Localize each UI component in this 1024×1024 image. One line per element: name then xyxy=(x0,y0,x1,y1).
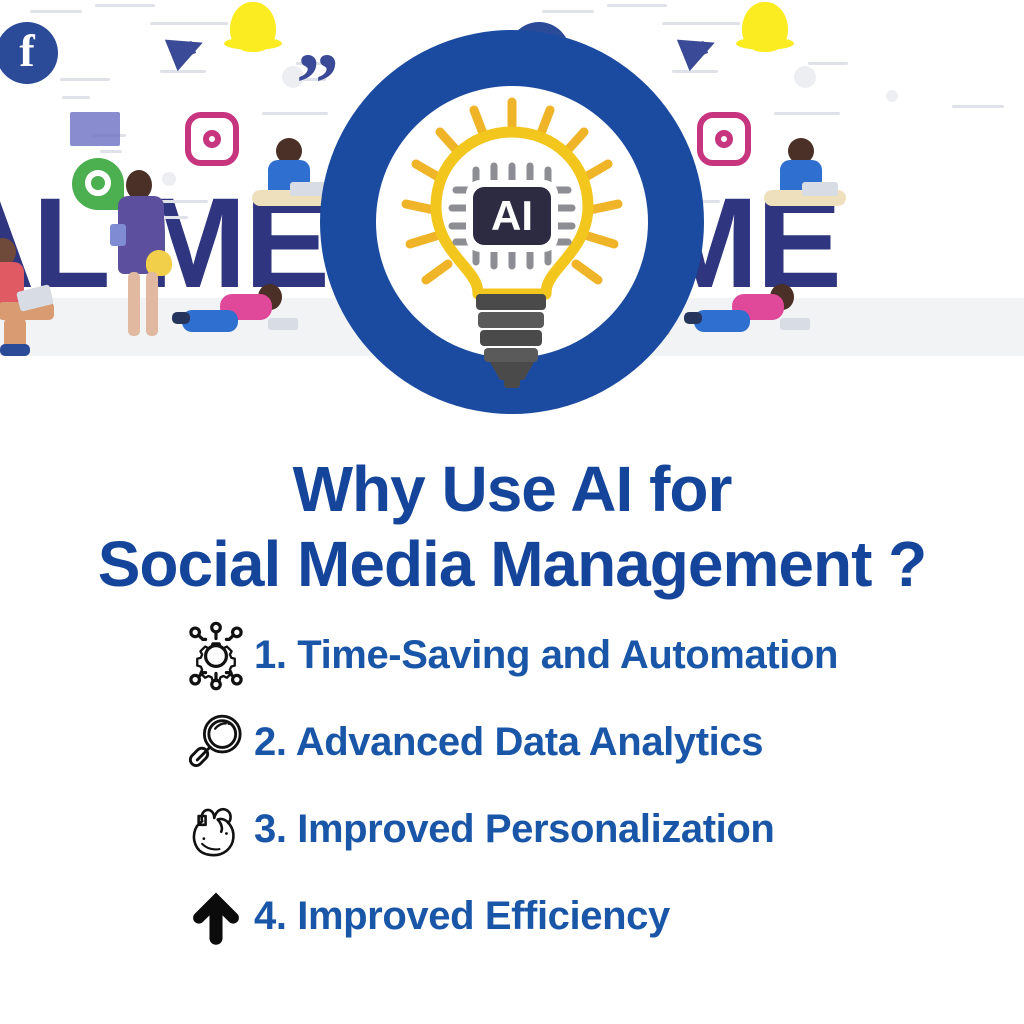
instagram-icon xyxy=(185,112,239,166)
gear-circuit-icon xyxy=(178,618,254,694)
list-item[interactable]: 3. Improved Personalization xyxy=(178,786,938,873)
poster-canvas: AL MED ” xyxy=(0,0,1024,1024)
lightbulb-icon: AI xyxy=(378,88,646,388)
ai-lightbulb-emblem: AI xyxy=(320,30,704,444)
share-arrow-icon xyxy=(165,27,209,71)
magnifying-glass-icon xyxy=(178,705,254,781)
list-item-label: 2. Advanced Data Analytics xyxy=(254,720,763,765)
list-item-label: 3. Improved Personalization xyxy=(254,807,774,852)
snapchat-icon xyxy=(742,2,788,52)
list-item[interactable]: 1. Time-Saving and Automation xyxy=(178,612,938,699)
list-item[interactable]: 2. Advanced Data Analytics xyxy=(178,699,938,786)
list-item-label: 4. Improved Efficiency xyxy=(254,894,670,939)
person-illustration xyxy=(110,170,184,356)
person-illustration xyxy=(0,238,74,356)
snapchat-icon xyxy=(230,2,276,52)
anatomical-heart-icon xyxy=(178,792,254,868)
up-arrow-icon xyxy=(178,879,254,955)
title-line-1: Why Use AI for xyxy=(0,452,1024,526)
title-line-2: Social Media Management ? xyxy=(0,526,1024,602)
chip-ai-label: AI xyxy=(491,192,533,239)
person-illustration xyxy=(176,280,296,344)
person-illustration xyxy=(764,138,850,220)
facebook-icon xyxy=(0,22,58,84)
list-item[interactable]: 4. Improved Efficiency xyxy=(178,873,938,960)
person-illustration xyxy=(688,280,808,344)
benefits-list: 1. Time-Saving and Automation 2. Advance… xyxy=(178,612,938,960)
list-item-label: 1. Time-Saving and Automation xyxy=(254,633,838,678)
page-title: Why Use AI for Social Media Management ? xyxy=(0,452,1024,602)
instagram-icon xyxy=(697,112,751,166)
